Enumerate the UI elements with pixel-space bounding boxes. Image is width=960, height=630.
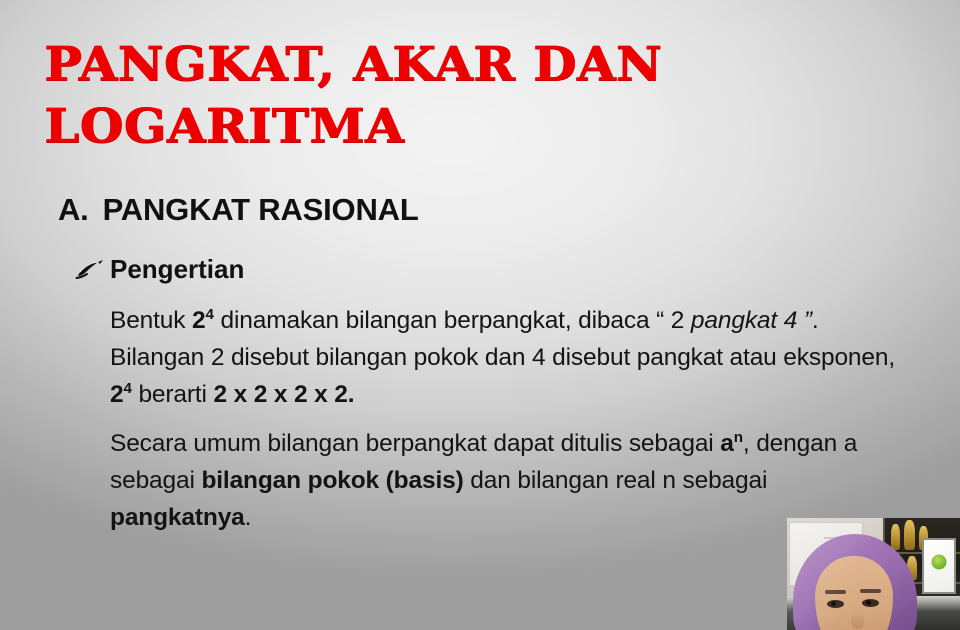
section-letter: A. bbox=[58, 192, 89, 228]
title-line-1: PANGKAT, AKAR DAN bbox=[44, 34, 701, 96]
eye bbox=[827, 600, 844, 608]
run-bold: 2 bbox=[192, 307, 205, 334]
run-italic: pangkat 4 ” bbox=[691, 307, 812, 334]
face bbox=[815, 556, 893, 630]
run-bold: pangkatnya bbox=[110, 504, 245, 531]
paragraph-1: Bentuk 24 dinamakan bilangan berpangkat,… bbox=[110, 302, 910, 413]
run-bold: bilangan pokok (basis) bbox=[201, 467, 463, 494]
nose bbox=[851, 612, 864, 629]
eye bbox=[862, 599, 879, 607]
run-text: dinamakan bilangan berpangkat, dibaca “ … bbox=[214, 307, 691, 334]
run-text: Bentuk bbox=[110, 307, 192, 334]
presenter-portrait bbox=[793, 534, 917, 630]
certificate-seal-icon bbox=[932, 554, 947, 569]
slide-title: PANGKAT, AKAR DAN LOGARITMA bbox=[44, 34, 664, 158]
title-line-2: LOGARITMA bbox=[44, 96, 701, 158]
run-bold: a bbox=[720, 430, 733, 457]
eyebrow bbox=[860, 589, 881, 593]
subsection-title: Pengertian bbox=[110, 254, 244, 285]
presentation-slide: PANGKAT, AKAR DAN LOGARITMA A. PANGKAT R… bbox=[0, 0, 960, 630]
run-text: . bbox=[245, 504, 252, 531]
run-bold: 2 bbox=[110, 381, 123, 408]
run-superscript: n bbox=[734, 429, 743, 446]
eyebrow bbox=[825, 590, 846, 594]
section-title: PANGKAT RASIONAL bbox=[103, 192, 419, 228]
body-text: Bentuk 24 dinamakan bilangan berpangkat,… bbox=[110, 302, 910, 536]
run-bold: 2 x 2 x 2 x 2. bbox=[214, 381, 355, 408]
run-text: Secara umum bilangan berpangkat dapat di… bbox=[110, 430, 720, 457]
presenter-webcam[interactable] bbox=[787, 518, 960, 630]
run-superscript: 4 bbox=[123, 380, 131, 397]
quill-pen-icon bbox=[74, 259, 104, 281]
framed-certificate bbox=[922, 538, 956, 594]
run-superscript: 4 bbox=[206, 306, 214, 323]
run-text: dan bilangan real n sebagai bbox=[464, 467, 768, 494]
subsection-heading: Pengertian bbox=[74, 254, 244, 285]
section-heading: A. PANGKAT RASIONAL bbox=[58, 192, 419, 228]
run-text: berarti bbox=[132, 381, 214, 408]
